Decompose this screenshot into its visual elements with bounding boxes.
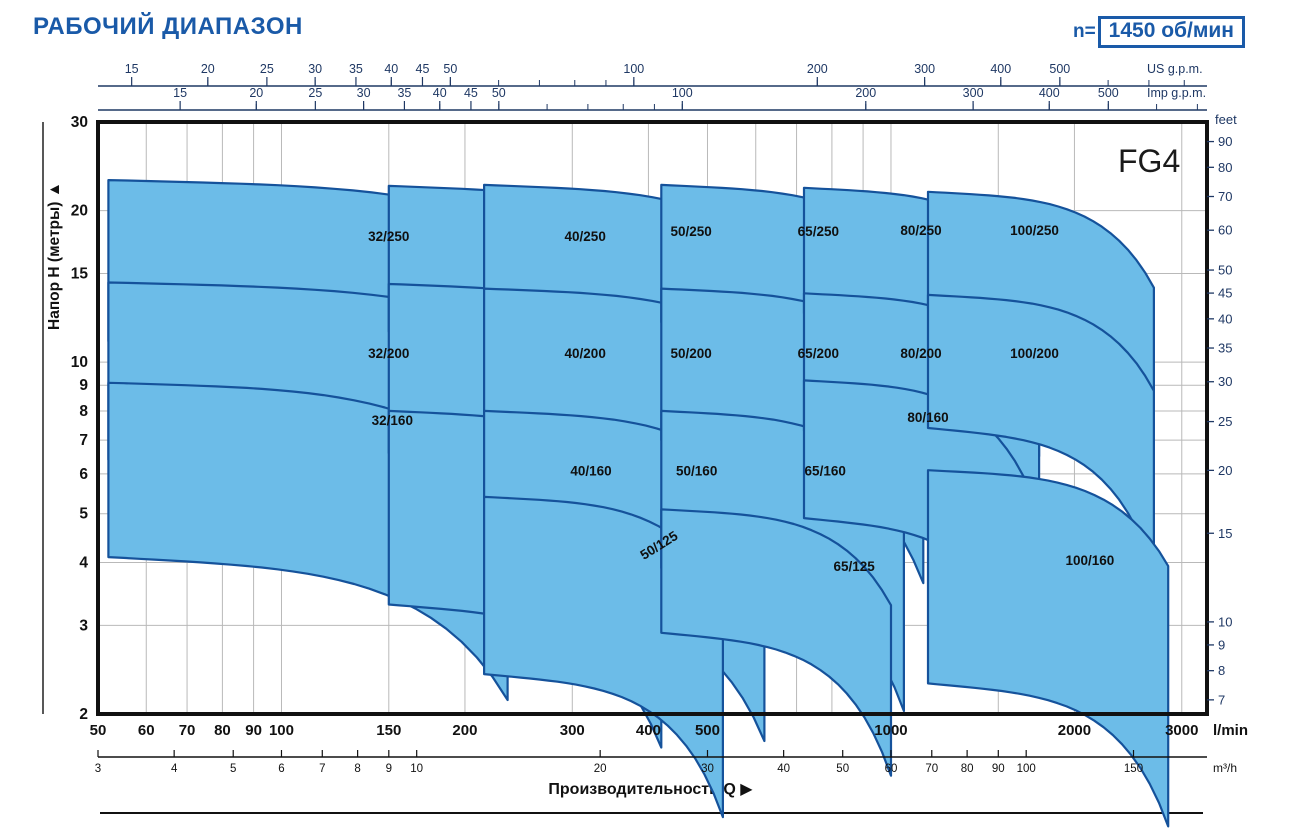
xtick-m3h: 150 [1124,763,1143,775]
xtick-impgpm: 100 [672,86,693,100]
ytick-feet: 20 [1218,463,1232,478]
xtick-m3h: 10 [410,763,423,775]
xtick-m3h: 3 [95,763,101,775]
ytick-feet: 35 [1218,341,1232,356]
envelope-label: 32/160 [372,413,413,428]
xtick-usgpm: 500 [1049,62,1070,76]
xtick-impgpm: 200 [855,86,876,100]
ytick-metres: 3 [79,617,88,634]
envelope-label: 65/200 [798,346,839,361]
xtick-usgpm: 400 [990,62,1011,76]
xtick-m3h: 7 [319,763,325,775]
xtick-lmin: 300 [560,722,585,739]
xtick-impgpm: 40 [433,86,447,100]
xtick-usgpm-unit: US g.p.m. [1147,62,1203,76]
envelope-label: 32/200 [368,346,409,361]
envelope-label: 40/250 [565,229,606,244]
ytick-feet: 30 [1218,374,1232,389]
ytick-metres: 7 [79,432,88,449]
xtick-impgpm: 45 [464,86,478,100]
envelope-label: 40/200 [565,346,606,361]
xtick-lmin: 1000 [874,722,907,739]
xtick-impgpm: 400 [1039,86,1060,100]
ytick-metres: 20 [71,203,88,220]
xtick-impgpm: 35 [397,86,411,100]
xtick-m3h: 100 [1017,763,1036,775]
xtick-lmin: 2000 [1058,722,1091,739]
envelope-label: 80/200 [900,346,941,361]
y-unit-feet: feet [1215,112,1237,127]
xtick-lmin: 500 [695,722,720,739]
xtick-lmin: 3000 [1165,722,1198,739]
xtick-usgpm: 30 [308,62,322,76]
ytick-metres: 5 [79,506,88,523]
ytick-metres: 4 [79,554,88,571]
xtick-m3h: 30 [701,763,714,775]
ytick-feet: 9 [1218,637,1225,652]
xtick-m3h: 5 [230,763,236,775]
ytick-feet: 45 [1218,286,1232,301]
xtick-usgpm: 25 [260,62,274,76]
ytick-feet: 8 [1218,663,1225,678]
xtick-lmin: 200 [452,722,477,739]
envelope-label: 50/160 [676,464,717,479]
xtick-impgpm: 500 [1098,86,1119,100]
xtick-usgpm: 300 [914,62,935,76]
ytick-feet: 50 [1218,263,1232,278]
ytick-feet: 60 [1218,223,1232,238]
xtick-usgpm: 200 [807,62,828,76]
ytick-metres: 15 [71,266,89,283]
xtick-impgpm: 300 [963,86,984,100]
xtick-usgpm: 45 [416,62,430,76]
xtick-usgpm: 20 [201,62,215,76]
xtick-m3h: 60 [885,763,898,775]
ytick-feet: 25 [1218,414,1232,429]
xtick-usgpm: 15 [125,62,139,76]
envelope-label: 100/250 [1010,223,1059,238]
xtick-impgpm-unit: Imp g.p.m. [1147,86,1206,100]
xtick-m3h: 4 [171,763,178,775]
xtick-lmin: 100 [269,722,294,739]
xtick-m3h: 90 [992,763,1005,775]
envelope-label: 80/250 [900,223,941,238]
envelope-label: 80/160 [907,410,948,425]
xtick-impgpm: 50 [492,86,506,100]
xtick-m3h: 20 [594,763,607,775]
ytick-feet: 90 [1218,134,1232,149]
envelope-label: 100/200 [1010,346,1059,361]
x-unit-lmin: l/min [1213,722,1248,739]
envelope-label: 65/160 [805,464,846,479]
brand-logo: FG4 [1118,143,1180,179]
xtick-m3h: 8 [354,763,360,775]
ytick-metres: 8 [79,403,88,420]
xtick-m3h: 40 [777,763,790,775]
xtick-usgpm: 50 [443,62,457,76]
envelope-label: 40/160 [570,464,611,479]
ytick-feet: 70 [1218,189,1232,204]
envelope-label: 100/160 [1065,553,1114,568]
ytick-feet: 80 [1218,160,1232,175]
xtick-impgpm: 20 [249,86,263,100]
xtick-m3h: 70 [925,763,938,775]
envelope-label: 65/125 [833,559,875,574]
ytick-metres: 6 [79,466,88,483]
ytick-feet: 10 [1218,614,1232,629]
ytick-metres: 9 [79,377,88,394]
xtick-usgpm: 35 [349,62,363,76]
xtick-lmin: 60 [138,722,155,739]
xtick-lmin: 80 [214,722,231,739]
ytick-feet: 7 [1218,692,1225,707]
xtick-lmin: 90 [245,722,262,739]
envelope-label: 50/200 [670,346,711,361]
xtick-lmin: 50 [90,722,107,739]
xtick-impgpm: 25 [308,86,322,100]
xtick-m3h: 50 [836,763,849,775]
xtick-m3h: 9 [386,763,392,775]
xtick-impgpm: 15 [173,86,187,100]
ytick-feet: 15 [1218,526,1232,541]
xtick-m3h: 6 [278,763,284,775]
x-unit-m3h: m³/h [1213,761,1237,775]
ytick-metres: 10 [71,354,88,371]
ytick-metres: 30 [71,114,88,131]
xtick-lmin: 400 [636,722,661,739]
envelope-label: 50/250 [670,224,711,239]
xtick-m3h: 80 [961,763,974,775]
envelope-label: 65/250 [798,224,839,239]
xtick-usgpm: 40 [384,62,398,76]
envelope-label: 32/250 [368,229,409,244]
xtick-lmin: 150 [376,722,401,739]
xtick-usgpm: 100 [623,62,644,76]
pump-performance-chart: 32/25032/20032/16040/25040/20040/16050/2… [0,0,1301,834]
ytick-metres: 2 [79,706,88,723]
ytick-feet: 40 [1218,311,1232,326]
xtick-lmin: 70 [179,722,196,739]
xtick-impgpm: 30 [357,86,371,100]
